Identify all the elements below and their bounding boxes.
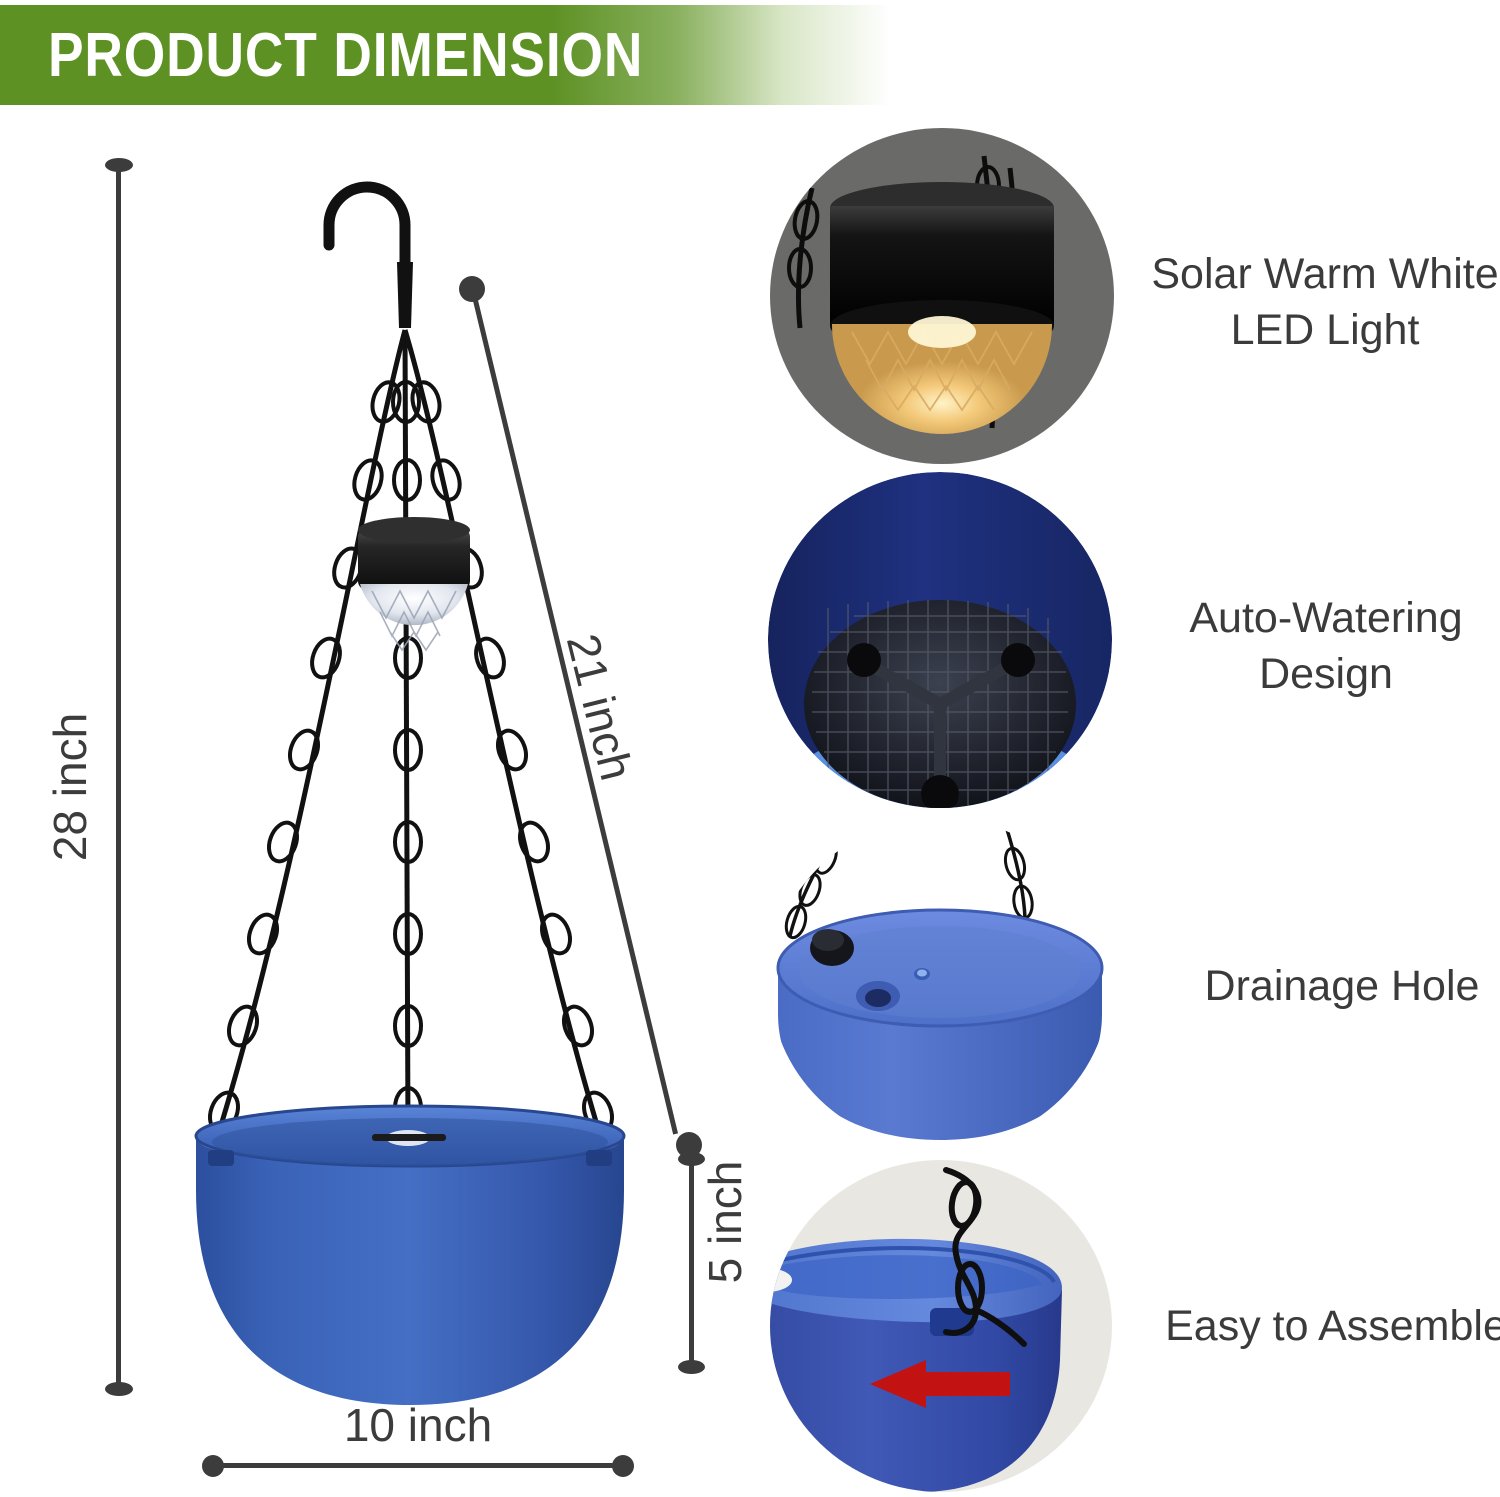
hook-shank — [397, 262, 413, 328]
auto-watering-photo — [768, 472, 1112, 808]
chain-group — [218, 330, 600, 1135]
feature-drainage-hole-image — [770, 818, 1110, 1148]
solar-lamp-photo — [770, 128, 1114, 464]
drainage-hole-photo — [770, 818, 1110, 1148]
dim-5-label: 5 inch — [698, 1122, 752, 1322]
page-title: PRODUCT DIMENSION — [48, 21, 736, 91]
feature-drainage-hole-label-line1: Drainage Hole — [1142, 958, 1500, 1014]
planter-pot — [196, 1106, 624, 1405]
feature-auto-watering-label-line1: Auto-Watering — [1126, 590, 1500, 646]
dim-10-line — [212, 1463, 624, 1468]
feature-auto-watering-image — [768, 472, 1112, 808]
feature-solar-led-image — [770, 128, 1114, 464]
dim-10-label: 10 inch — [268, 1398, 568, 1452]
dim-5-line — [689, 1160, 694, 1368]
feature-auto-watering-label: Auto-Watering Design — [1126, 590, 1500, 702]
dim-28-endpoint-bottom — [105, 1382, 133, 1396]
feature-drainage-hole-label: Drainage Hole — [1142, 958, 1500, 1014]
solar-led-light — [358, 517, 470, 650]
feature-easy-assemble-label-line1: Easy to Assemble — [1126, 1298, 1500, 1354]
feature-solar-led-label-line1: Solar Warm White — [1120, 246, 1500, 302]
dim-10-endpoint-right — [612, 1455, 634, 1477]
chain-links — [205, 379, 617, 1135]
feature-easy-assemble-label: Easy to Assemble — [1126, 1298, 1500, 1354]
feature-easy-assemble-image — [770, 1160, 1112, 1492]
feature-solar-led-label-line2: LED Light — [1120, 302, 1500, 358]
dim-28-label: 28 inch — [43, 672, 97, 902]
hanging-hook — [329, 187, 405, 268]
dim-5-endpoint-bottom — [678, 1360, 705, 1374]
header-banner: PRODUCT DIMENSION — [0, 5, 890, 105]
easy-assemble-photo — [770, 1160, 1112, 1492]
feature-auto-watering-label-line2: Design — [1126, 646, 1500, 702]
feature-solar-led-label: Solar Warm White LED Light — [1120, 246, 1500, 358]
dim-28-line — [116, 166, 121, 1388]
